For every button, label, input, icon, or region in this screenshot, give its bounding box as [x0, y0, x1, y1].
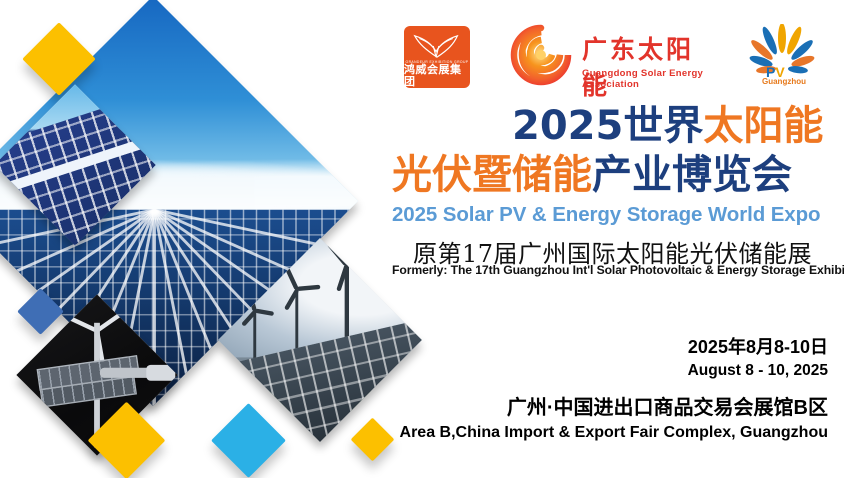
diamond-yellow-bottom-right — [351, 418, 395, 462]
collage-area — [0, 0, 420, 478]
title-line1-navy: 2025世界 — [512, 103, 703, 149]
pv-logo-subtext: Guangzhou — [762, 77, 806, 86]
logo-row: GRANDEUR EXHIBITION GROUP 鸿威会展集团 广东太阳能 G… — [398, 22, 838, 94]
pv-guangzhou-logo[interactable]: PV Guangzhou — [736, 24, 832, 90]
former-name-english: Formerly: The 17th Guangzhou Int'l Solar… — [392, 263, 844, 277]
diamond-cyan-bottom-center — [211, 403, 286, 478]
gsea-logo-english: Guangdong Solar Energy Association — [582, 68, 718, 90]
event-date-chinese: 2025年8月8-10日 — [688, 333, 828, 359]
grandeur-exhibition-group-logo[interactable]: GRANDEUR EXHIBITION GROUP 鸿威会展集团 — [404, 26, 470, 88]
gsea-logo-chinese: 广东太阳能 — [582, 30, 718, 102]
title-line2-navy: 产业博览会 — [592, 152, 792, 198]
title-line1-orange: 太阳能 — [703, 103, 823, 149]
title-line2-orange: 光伏暨储能 — [392, 152, 592, 198]
title-line-2: 光伏暨储能产业博览会 — [392, 152, 792, 198]
wings-w-icon — [411, 33, 463, 59]
guangdong-solar-energy-association-logo[interactable]: 广东太阳能 Guangdong Solar Energy Association — [508, 24, 718, 90]
grandeur-logo-chinese: 鸿威会展集团 — [404, 64, 470, 88]
event-date-english: August 8 - 10, 2025 — [688, 362, 828, 380]
event-venue-chinese: 广州·中国进出口商品交易会展馆B区 — [507, 391, 828, 420]
title-line-1: 2025世界太阳能 — [512, 103, 823, 149]
title-english: 2025 Solar PV & Energy Storage World Exp… — [392, 203, 820, 227]
event-venue-english: Area B,China Import & Export Fair Comple… — [400, 424, 828, 442]
poster-root: GRANDEUR EXHIBITION GROUP 鸿威会展集团 广东太阳能 G… — [0, 0, 844, 478]
solar-spiral-icon — [508, 24, 574, 86]
